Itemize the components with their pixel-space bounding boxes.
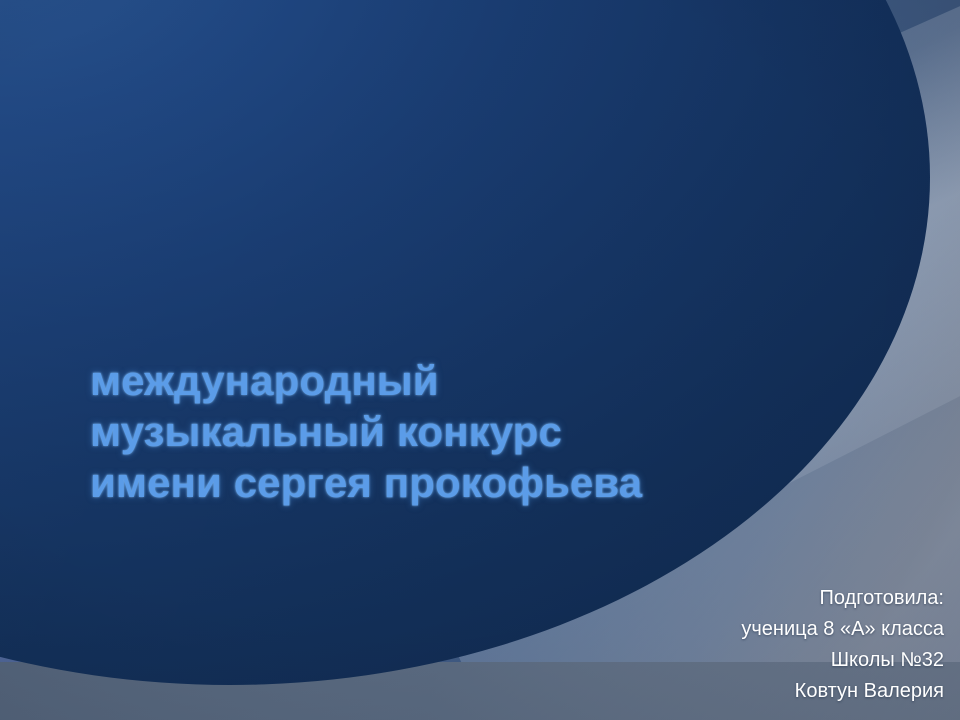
byline-block: Подготовила: ученица 8 «А» класса Школы …: [524, 583, 944, 707]
slide-title: международный музыкальный конкурс имени …: [90, 355, 810, 508]
byline-line-prepared-by: Подготовила:: [524, 583, 944, 614]
byline-line-class: ученица 8 «А» класса: [524, 614, 944, 645]
byline-line-author-name: Ковтун Валерия: [524, 676, 944, 707]
byline-line-school: Школы №32: [524, 645, 944, 676]
title-slide: международный музыкальный конкурс имени …: [0, 0, 960, 720]
